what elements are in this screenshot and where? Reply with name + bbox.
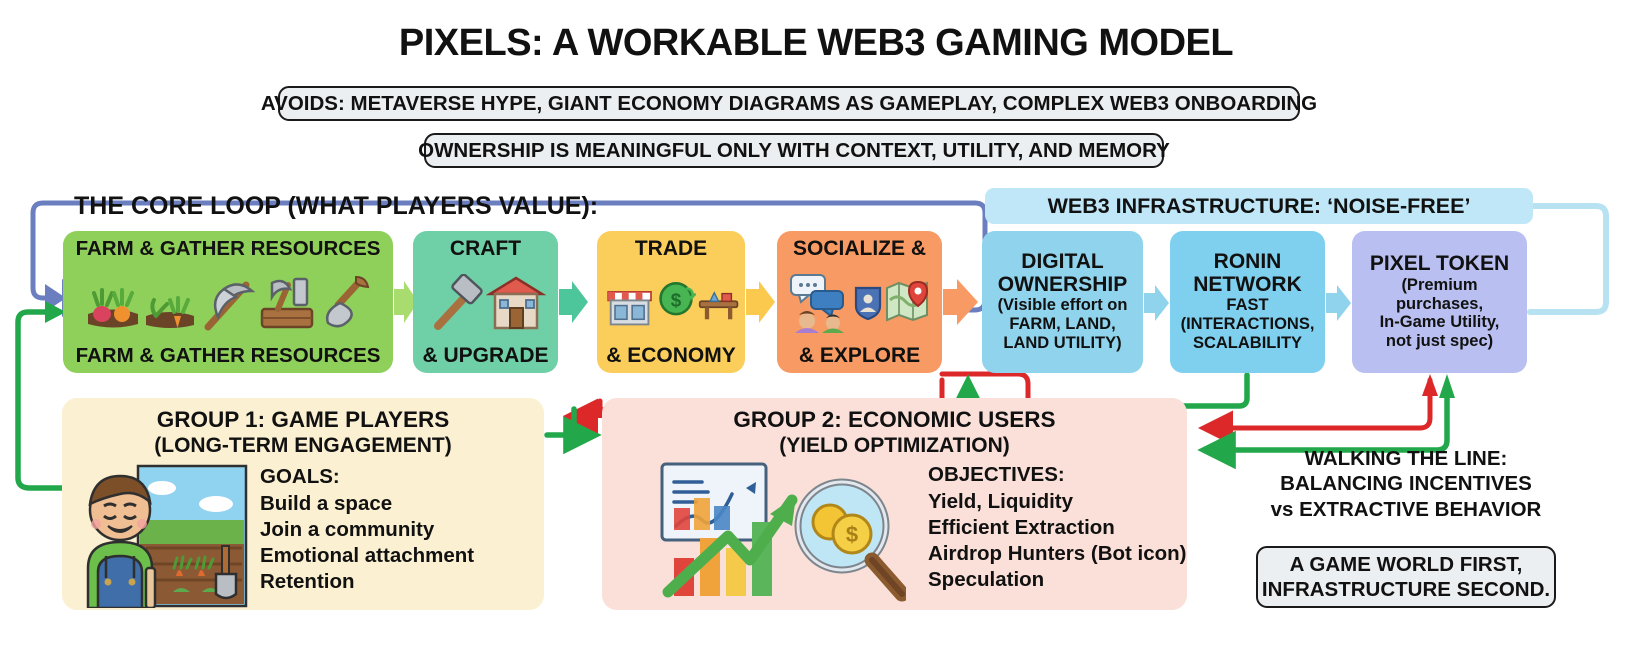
box-title-bottom: & ECONOMY: [606, 345, 736, 367]
closing-statement-pill: A GAME WORLD FIRST, INFRASTRUCTURE SECON…: [1256, 546, 1556, 608]
group1-heading: GROUP 1: GAME PLAYERS (LONG-TERM ENGAGEM…: [62, 398, 544, 458]
page-title: PIXELS: A WORKABLE WEB3 GAMING MODEL: [0, 22, 1632, 65]
trade-icons: $: [603, 260, 739, 345]
walking-line-3: vs EXTRACTIVE BEHAVIOR: [1196, 497, 1616, 522]
craft-icons: [419, 260, 552, 345]
box-title-top: TRADE: [635, 238, 707, 260]
core-loop-box-socialize[interactable]: SOCIALIZE &: [777, 231, 942, 373]
goal-item: Join a community: [260, 517, 474, 543]
box-title-bottom: FARM & GATHER RESOURCES: [76, 345, 381, 367]
goals-label: GOALS:: [260, 464, 474, 490]
arrow-ronin-to-token: [1326, 285, 1351, 321]
avoids-banner: AVOIDS: METAVERSE HYPE, GIANT ECONOMY DI…: [278, 86, 1300, 121]
group1-subtitle: (LONG-TERM ENGAGEMENT): [62, 434, 544, 459]
w3-heading-line-1: PIXEL TOKEN: [1370, 253, 1509, 276]
w3-sub-line-2: (INTERACTIONS,: [1181, 315, 1315, 334]
svg-text:$: $: [846, 522, 858, 547]
guild-badge-icon: [853, 286, 883, 320]
walking-the-line-note: WALKING THE LINE: BALANCING INCENTIVES v…: [1196, 446, 1616, 522]
web3-box-ronin-network[interactable]: RONIN NETWORK FAST (INTERACTIONS, SCALAB…: [1170, 231, 1325, 373]
w3-sub-line-3: not just spec): [1386, 332, 1493, 351]
green-feedback-loop: [18, 301, 66, 488]
chat-bubble-icon: [789, 273, 851, 333]
box-title-bottom: & EXPLORE: [799, 345, 920, 367]
objective-item: Speculation: [928, 567, 1187, 593]
map-pin-icon: [885, 280, 931, 326]
group2-objectives-list: OBJECTIVES: Yield, Liquidity Efficient E…: [928, 462, 1187, 593]
walking-line-1: WALKING THE LINE:: [1196, 446, 1616, 471]
goal-item: Build a space: [260, 491, 474, 517]
objectives-label: OBJECTIVES:: [928, 462, 1187, 488]
sprout-carrot-icon: [144, 276, 196, 330]
group1-goals-list: GOALS: Build a space Join a community Em…: [260, 464, 474, 595]
objective-item: Airdrop Hunters (Bot icon): [928, 541, 1187, 567]
web3-box-pixel-token[interactable]: PIXEL TOKEN (Premium purchases, In-Game …: [1352, 231, 1527, 373]
w3-heading-line-2: NETWORK: [1193, 274, 1302, 297]
svg-text:$: $: [671, 289, 682, 310]
goal-item: Emotional attachment: [260, 543, 474, 569]
trade-table-icon: [698, 281, 739, 325]
w3-sub-line-3: SCALABILITY: [1193, 334, 1302, 353]
w3-sub-line-1: (Visible effort on: [998, 296, 1128, 315]
closing-line-1: A GAME WORLD FIRST,: [1290, 552, 1523, 577]
group2-heading: GROUP 2: ECONOMIC USERS (YIELD OPTIMIZAT…: [602, 398, 1187, 458]
group1-panel[interactable]: GROUP 1: GAME PLAYERS (LONG-TERM ENGAGEM…: [62, 398, 544, 610]
w3-sub-line-3: LAND UTILITY): [1003, 334, 1121, 353]
w3-sub-line-1: (Premium purchases,: [1358, 276, 1521, 314]
core-loop-box-craft[interactable]: CRAFT & UPGRADE: [413, 231, 558, 373]
w3-heading-line-1: RONIN: [1214, 251, 1282, 274]
box-title-top: SOCIALIZE &: [793, 238, 926, 260]
shovel-icon: [318, 275, 372, 331]
box-title-bottom: & UPGRADE: [422, 345, 548, 367]
wood-axe-icon: [258, 275, 316, 331]
pickaxe-icon: [198, 275, 256, 331]
arrow-socialize-to-digital: [943, 279, 978, 325]
objective-item: Yield, Liquidity: [928, 489, 1187, 515]
arrow-trade-to-socialize: [746, 281, 775, 323]
w3-heading-line-2: OWNERSHIP: [998, 274, 1128, 297]
objective-item: Efficient Extraction: [928, 515, 1187, 541]
w3-heading-line-1: DIGITAL: [1021, 251, 1103, 274]
w3-sub-line-2: FARM, LAND,: [1009, 315, 1115, 334]
money-coin-icon: $: [658, 276, 696, 330]
group2-panel[interactable]: GROUP 2: ECONOMIC USERS (YIELD OPTIMIZAT…: [602, 398, 1187, 610]
arrow-digital-to-ronin: [1144, 285, 1169, 321]
hammer-icon: [426, 274, 484, 332]
web3-banner-connector: [1530, 206, 1606, 312]
group1-title: GROUP 1: GAME PLAYERS: [62, 407, 544, 434]
box-title-top: FARM & GATHER RESOURCES: [76, 238, 381, 260]
pixel-farmer-illustration: [76, 464, 248, 608]
ownership-banner: OWNERSHIP IS MEANINGFUL ONLY WITH CONTEX…: [424, 133, 1164, 168]
w3-sub-line-1: FAST: [1226, 296, 1268, 315]
core-loop-label: THE CORE LOOP (WHAT PLAYERS VALUE):: [74, 192, 598, 221]
diagram-canvas: PIXELS: A WORKABLE WEB3 GAMING MODEL AVO…: [0, 0, 1632, 656]
market-stall-icon: [603, 274, 656, 332]
group2-subtitle: (YIELD OPTIMIZATION): [602, 434, 1187, 459]
chart-magnifier-illustration: $: [658, 462, 906, 610]
goal-item: Retention: [260, 569, 474, 595]
group2-title: GROUP 2: ECONOMIC USERS: [602, 407, 1187, 434]
w3-sub-line-2: In-Game Utility,: [1380, 313, 1500, 332]
box-title-top: CRAFT: [450, 238, 521, 260]
arrow-craft-to-trade: [559, 281, 588, 323]
socialize-icons: [783, 260, 936, 345]
walking-line-2: BALANCING INCENTIVES: [1196, 471, 1616, 496]
house-icon: [486, 274, 546, 332]
red-token-to-users: [1205, 374, 1438, 428]
web3-box-digital-ownership[interactable]: DIGITAL OWNERSHIP (Visible effort on FAR…: [982, 231, 1143, 373]
group2-body: $ OBJECTIVES: Yield, Liquidity Efficient…: [602, 458, 1187, 610]
farm-icons: [69, 260, 387, 346]
closing-line-2: INFRASTRUCTURE SECOND.: [1262, 577, 1550, 602]
group1-body: GOALS: Build a space Join a community Em…: [62, 458, 544, 608]
core-loop-box-farm[interactable]: FARM & GATHER RESOURCES: [63, 231, 393, 373]
web3-infrastructure-banner: WEB3 INFRASTRUCTURE: ‘NOISE-FREE’: [985, 188, 1533, 224]
beet-carrot-icon: [84, 276, 142, 330]
core-loop-box-trade[interactable]: TRADE $ & ECONOMY: [597, 231, 745, 373]
